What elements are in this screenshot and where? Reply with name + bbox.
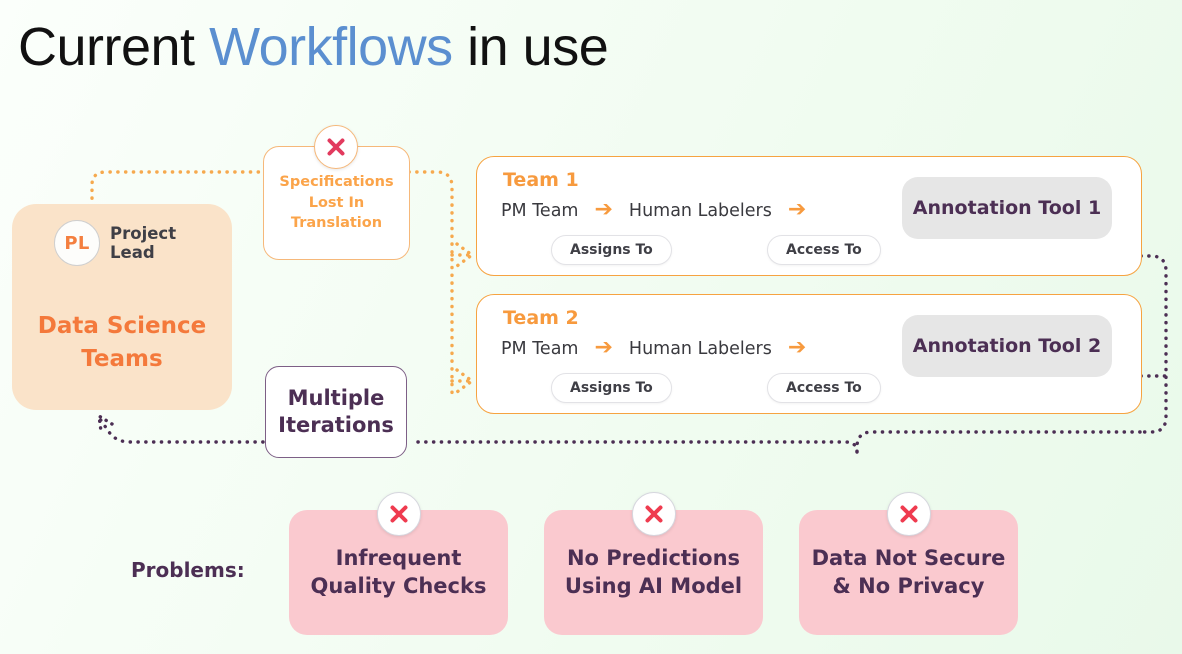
problems-label: Problems: (131, 558, 245, 582)
x-mark-icon-problem-2 (887, 492, 931, 536)
connector-return-to-iterations (414, 442, 857, 452)
page-title-suffix: in use (453, 17, 609, 77)
data-science-teams-title: Data Science Teams (12, 310, 232, 377)
team-label-2: Team 2 (503, 307, 579, 329)
connector-return-drop (857, 432, 1140, 452)
problem-text-2: Data Not Secure & No Privacy (812, 545, 1006, 600)
team-2-pill-access-to[interactable]: Access To (767, 373, 881, 403)
page-title-accent: Workflows (209, 17, 453, 77)
data-science-teams-card[interactable]: PL Project Lead Data Science Teams (12, 204, 232, 410)
x-mark-icon-problem-1 (632, 492, 676, 536)
connector-specifications-trunk (409, 172, 452, 395)
team-1-pill-assigns-to[interactable]: Assigns To (551, 235, 672, 265)
team-1-source: PM Team (501, 201, 578, 221)
diagram-canvas: Current Workflows in use PL Project Lead… (0, 0, 1182, 654)
team-2-source: PM Team (501, 339, 578, 359)
arrow-right-icon-1b: ➔ (788, 199, 806, 221)
team-2-pill-assigns-to[interactable]: Assigns To (551, 373, 672, 403)
team-card-2[interactable]: Team 2 PM Team ➔ Human Labelers ➔ Assign… (476, 294, 1142, 414)
team-1-pill-access-to[interactable]: Access To (767, 235, 881, 265)
team-label-1: Team 1 (503, 169, 579, 191)
team-flow-row-1: PM Team ➔ Human Labelers ➔ (501, 200, 806, 222)
page-title-prefix: Current (18, 17, 209, 77)
x-mark-icon-problem-0 (377, 492, 421, 536)
multiple-iterations-text: Multiple Iterations (278, 385, 394, 440)
project-lead-row: PL Project Lead (54, 220, 176, 266)
connector-iterations-to-ds (100, 419, 263, 442)
specifications-lost-text: Specifications Lost In Translation (279, 172, 393, 234)
team-flow-row-2: PM Team ➔ Human Labelers ➔ (501, 338, 806, 360)
project-lead-avatar: PL (54, 220, 100, 266)
arrowhead-team2 (457, 370, 472, 392)
problem-text-0: Infrequent Quality Checks (311, 545, 487, 600)
x-mark-icon-specifications (314, 125, 358, 169)
arrow-right-icon-2b: ➔ (788, 337, 806, 359)
page-title: Current Workflows in use (18, 16, 608, 78)
problem-text-1: No Predictions Using AI Model (565, 545, 742, 600)
team-2-target: Human Labelers (629, 339, 772, 359)
team-1-target: Human Labelers (629, 201, 772, 221)
project-lead-label: Project Lead (110, 224, 176, 263)
arrowhead-team1 (457, 244, 472, 266)
arrowhead-ds-return (99, 416, 112, 431)
connector-ds-to-specifications (92, 172, 262, 206)
arrow-right-icon-1a: ➔ (594, 199, 612, 221)
annotation-tool-2[interactable]: Annotation Tool 2 (902, 315, 1112, 377)
team-card-1[interactable]: Team 1 PM Team ➔ Human Labelers ➔ Assign… (476, 156, 1142, 276)
annotation-tool-1[interactable]: Annotation Tool 1 (902, 177, 1112, 239)
arrow-right-icon-2a: ➔ (594, 337, 612, 359)
multiple-iterations-card[interactable]: Multiple Iterations (265, 366, 407, 458)
connector-team1-return (1140, 256, 1166, 432)
